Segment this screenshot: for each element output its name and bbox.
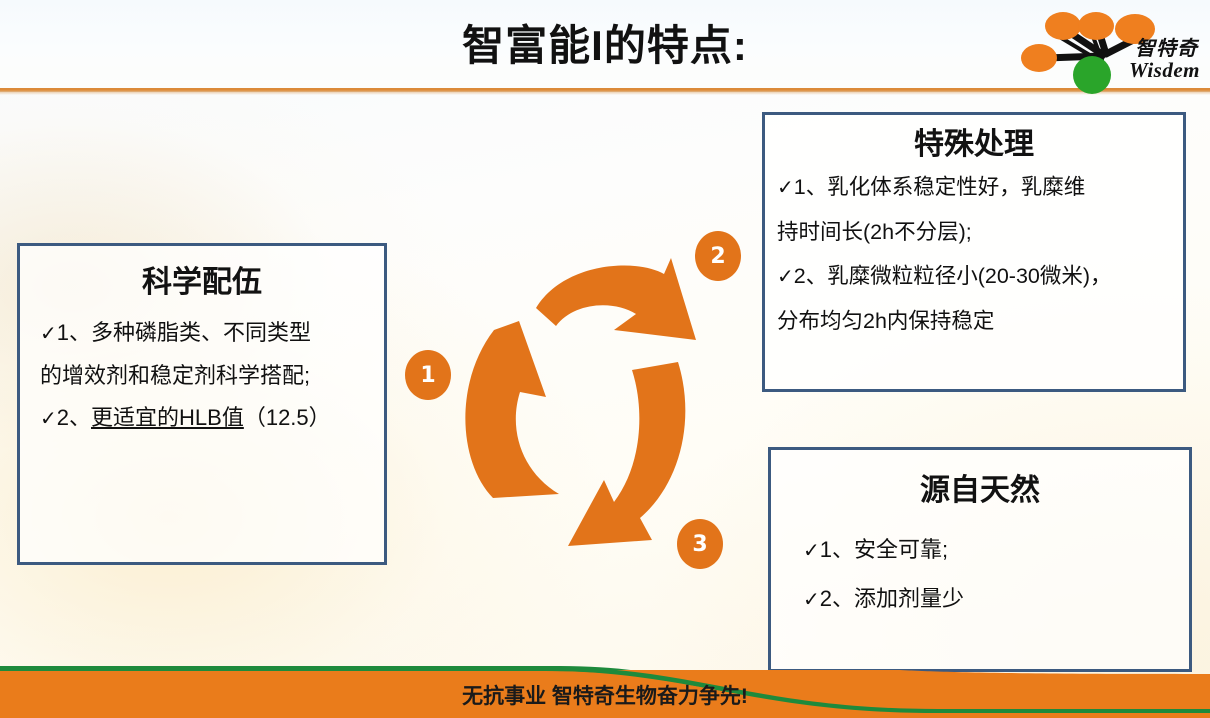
box-line-text: 1、多种磷脂类、不同类型 xyxy=(57,320,311,345)
box-line: ✓2、添加剂量少 xyxy=(779,575,1181,624)
check-icon: ✓ xyxy=(40,323,57,345)
feature-box-science-formula: 科学配伍 ✓1、多种磷脂类、不同类型 的增效剂和稳定剂科学搭配; ✓2、更适宜的… xyxy=(17,243,387,565)
cycle-badge-3: 3 xyxy=(677,519,723,569)
cycle-arrow-left xyxy=(465,321,559,498)
slide-canvas: 智富能I的特点: 智特奇 Wisdem 科学配伍 ✓1、多种磷脂类、不同类型 xyxy=(0,0,1210,718)
logo-name-en: Wisdem xyxy=(1129,58,1200,82)
box-line-text: 2、添加剂量少 xyxy=(820,586,964,611)
box-line: 分布均匀2h内保持稳定 xyxy=(773,299,1175,343)
feature-box-special-process: 特殊处理 ✓1、乳化体系稳定性好，乳糜维 持时间长(2h不分层); ✓2、乳糜微… xyxy=(762,112,1186,392)
company-logo: 智特奇 Wisdem xyxy=(1006,2,1204,94)
box-title-left: 科学配伍 xyxy=(30,262,374,304)
box-line: ✓1、安全可靠; xyxy=(779,526,1181,575)
check-icon: ✓ xyxy=(777,266,794,288)
cycle-arrow-bottom xyxy=(568,362,685,546)
footer-slogan: 无抗事业 智特奇生物奋力争先! xyxy=(0,683,1210,711)
feature-box-natural-source: 源自天然 ✓1、安全可靠; ✓2、添加剂量少 xyxy=(768,447,1192,672)
box-title-bottom-right: 源自天然 xyxy=(779,470,1181,512)
cycle-badge-2: 2 xyxy=(695,231,741,281)
box-title-top-right: 特殊处理 xyxy=(773,125,1175,165)
logo-dot-4 xyxy=(1021,44,1057,72)
cycle-badge-1: 1 xyxy=(405,350,451,400)
box-line-text: 2、乳糜微粒粒径小(20-30微米)， xyxy=(794,264,1112,288)
logo-dot-2 xyxy=(1078,12,1114,40)
check-icon: ✓ xyxy=(803,589,820,611)
logo-green-circle xyxy=(1073,56,1111,94)
box-line: ✓2、更适宜的HLB值（12.5） xyxy=(30,397,374,440)
box-line-text: 持时间长(2h不分层); xyxy=(777,220,972,244)
box-line-text: 2、更适宜的HLB值（12.5） xyxy=(57,405,331,430)
box-line: 的增效剂和稳定剂科学搭配; xyxy=(30,355,374,397)
check-icon: ✓ xyxy=(777,177,794,199)
check-icon: ✓ xyxy=(803,540,820,562)
box-line: 持时间长(2h不分层); xyxy=(773,210,1175,254)
logo-dot-1 xyxy=(1045,12,1081,40)
box-line-text: 的增效剂和稳定剂科学搭配; xyxy=(40,363,310,388)
box-line-text: 1、安全可靠; xyxy=(820,537,948,562)
check-icon: ✓ xyxy=(40,408,57,430)
box-line: ✓1、乳化体系稳定性好，乳糜维 xyxy=(773,165,1175,210)
box-line: ✓2、乳糜微粒粒径小(20-30微米)， xyxy=(773,254,1175,299)
box-line-text: 1、乳化体系稳定性好，乳糜维 xyxy=(794,175,1085,199)
cycle-arrow-top xyxy=(536,258,696,340)
logo-name-cn: 智特奇 xyxy=(1135,38,1198,60)
box-line-text: 分布均匀2h内保持稳定 xyxy=(777,309,994,333)
box-line: ✓1、多种磷脂类、不同类型 xyxy=(30,312,374,355)
